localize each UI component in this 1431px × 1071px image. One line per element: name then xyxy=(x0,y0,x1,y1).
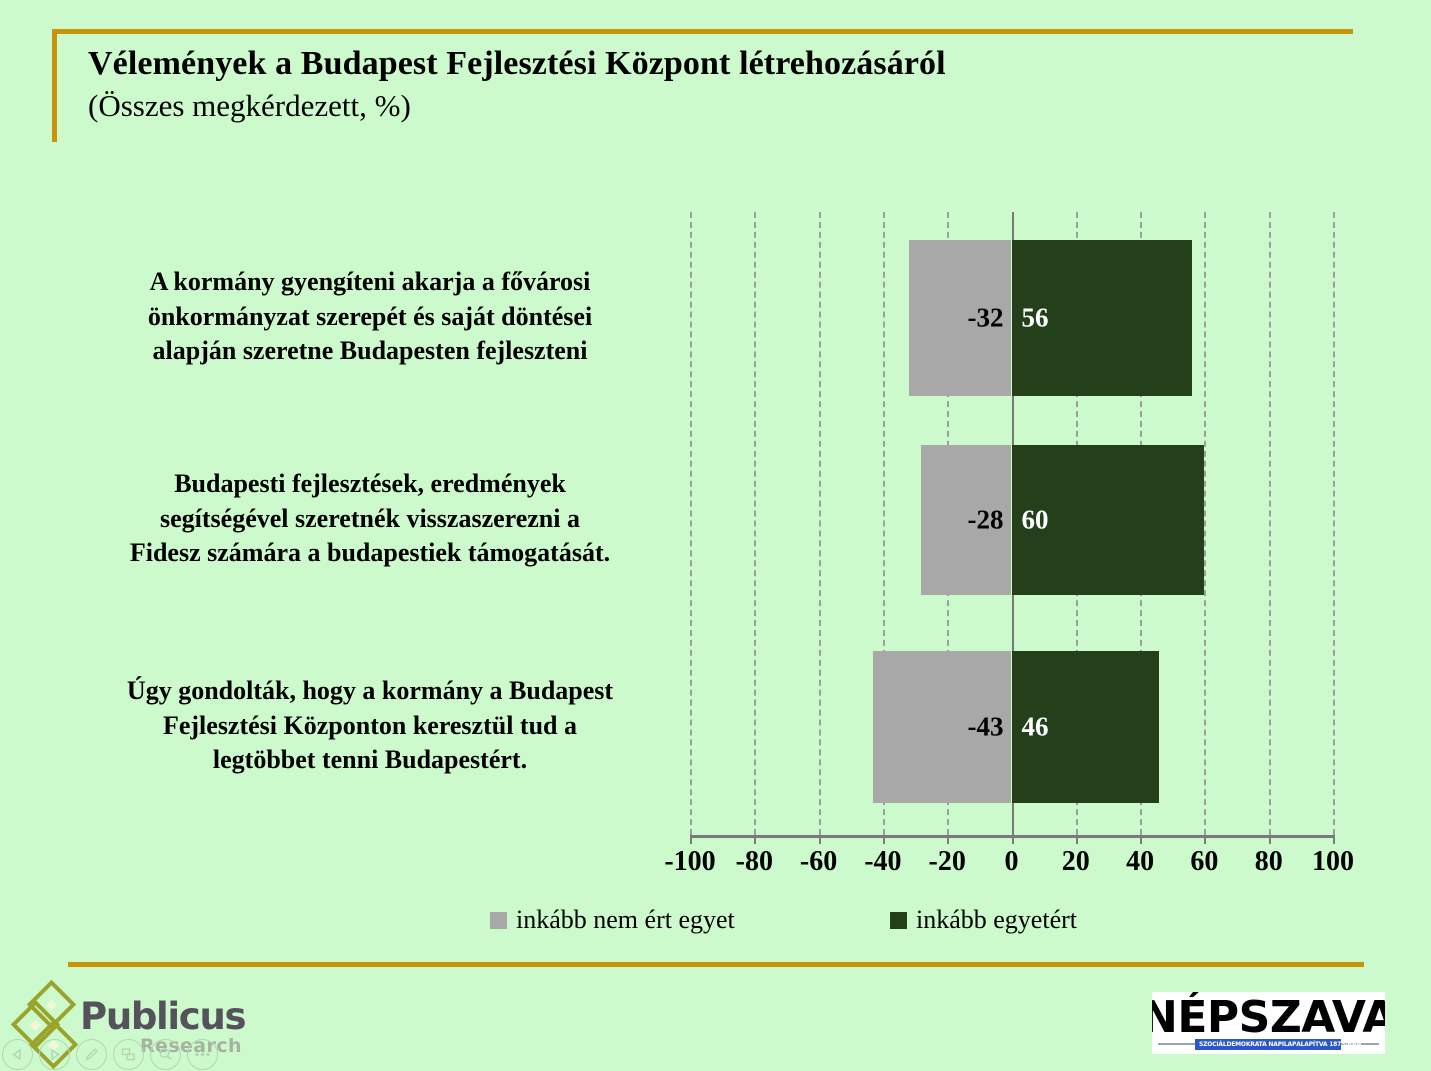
magnifier-icon[interactable] xyxy=(150,1039,181,1070)
bar-segment-agree[interactable]: 46 xyxy=(1012,651,1160,803)
bar-value-label: -32 xyxy=(967,305,1003,332)
category-label: Budapesti fejlesztések, eredményeksegíts… xyxy=(60,467,680,571)
slides-grid-icon[interactable] xyxy=(113,1039,144,1070)
category-label-line: segítségével szeretnék visszaszerezni a xyxy=(60,502,680,537)
nepszava-strip: SZOCIÁLDEMOKRATA NAPILAP ALAPÍTVA 1873-B… xyxy=(1195,1039,1341,1050)
pen-icon[interactable] xyxy=(76,1039,107,1070)
nepszava-logo: NÉPSZAVA SZOCIÁLDEMOKRATA NAPILAP ALAPÍT… xyxy=(1152,992,1385,1054)
gold-bottom-rule xyxy=(68,962,1364,967)
axis-tick xyxy=(1333,835,1335,844)
bar-rows: -3256-2860-4346 xyxy=(690,212,1333,835)
bar-value-label: 46 xyxy=(1022,714,1049,741)
bar-row: -2860 xyxy=(690,445,1333,595)
axis-tick-label: 100 xyxy=(1293,846,1373,878)
bar-segment-disagree[interactable]: -28 xyxy=(921,445,1011,595)
axis-tick xyxy=(947,835,949,844)
bar-segment-agree[interactable]: 60 xyxy=(1012,445,1205,595)
slide-subtitle: (Összes megkérdezett, %) xyxy=(88,86,1288,126)
bar-row: -4346 xyxy=(690,651,1333,803)
triangle-left-icon[interactable] xyxy=(2,1039,33,1070)
bar-value-label: 60 xyxy=(1022,507,1049,534)
category-label-line: Úgy gondolták, hogy a kormány a Budapest xyxy=(60,674,680,709)
category-label: A kormány gyengíteni akarja a fővárosiön… xyxy=(60,265,680,369)
gridline xyxy=(1333,212,1335,835)
bar-segment-disagree[interactable]: -32 xyxy=(909,240,1012,396)
category-label-line: önkormányzat szerepét és saját döntései xyxy=(60,300,680,335)
chart-legend: inkább nem ért egyetinkább egyetért xyxy=(490,905,1130,941)
bar-value-label: -28 xyxy=(967,507,1003,534)
axis-tick xyxy=(1269,835,1271,844)
category-label-line: A kormány gyengíteni akarja a fővárosi xyxy=(60,265,680,300)
nepszava-wordmark: NÉPSZAVA xyxy=(1152,992,1385,1043)
category-label-line: Budapesti fejlesztések, eredmények xyxy=(60,467,680,502)
bar-segment-agree[interactable]: 56 xyxy=(1012,240,1192,396)
axis-tick xyxy=(1204,835,1206,844)
bar-row: -3256 xyxy=(690,240,1333,396)
axis-tick xyxy=(754,835,756,844)
triangle-right-icon[interactable] xyxy=(39,1039,70,1070)
ellipsis-icon[interactable] xyxy=(187,1039,218,1070)
axis-tick xyxy=(819,835,821,844)
legend-label: inkább egyetért xyxy=(916,905,1077,935)
category-label-line: legtöbbet tenni Budapestért. xyxy=(60,743,680,778)
axis-tick xyxy=(1140,835,1142,844)
category-label-line: Fidesz számára a budapestiek támogatását… xyxy=(60,536,680,571)
plot-area: -3256-2860-4346 xyxy=(690,212,1333,835)
nepszava-strip-right-text: ALAPÍTVA 1873-BAN xyxy=(1296,1041,1361,1048)
gold-top-rule xyxy=(52,29,1353,34)
slide-title: Vélemények a Budapest Fejlesztési Közpon… xyxy=(88,42,1288,86)
publicus-wordmark: Publicus xyxy=(80,995,245,1038)
category-label: Úgy gondolták, hogy a kormány a Budapest… xyxy=(60,674,680,778)
slideshow-control-bar[interactable] xyxy=(0,1038,226,1071)
category-label-line: alapján szeretne Budapesten fejleszteni xyxy=(60,334,680,369)
axis-tick xyxy=(1076,835,1078,844)
bar-value-label: -43 xyxy=(967,714,1003,741)
legend-item[interactable]: inkább nem ért egyet xyxy=(490,905,735,935)
legend-swatch-icon xyxy=(490,912,507,929)
title-block: Vélemények a Budapest Fejlesztési Közpon… xyxy=(88,42,1288,125)
axis-tick xyxy=(690,835,692,844)
bar-segment-disagree[interactable]: -43 xyxy=(873,651,1011,803)
legend-label: inkább nem ért egyet xyxy=(516,905,735,935)
gold-left-rule xyxy=(52,29,57,142)
legend-item[interactable]: inkább egyetért xyxy=(890,905,1077,935)
axis-tick xyxy=(883,835,885,844)
legend-swatch-icon xyxy=(890,912,907,929)
nepszava-strip-left-text: SZOCIÁLDEMOKRATA NAPILAP xyxy=(1199,1041,1296,1048)
bar-value-label: 56 xyxy=(1022,305,1049,332)
axis-tick xyxy=(1012,835,1014,844)
category-label-line: Fejlesztési Központon keresztül tud a xyxy=(60,709,680,744)
